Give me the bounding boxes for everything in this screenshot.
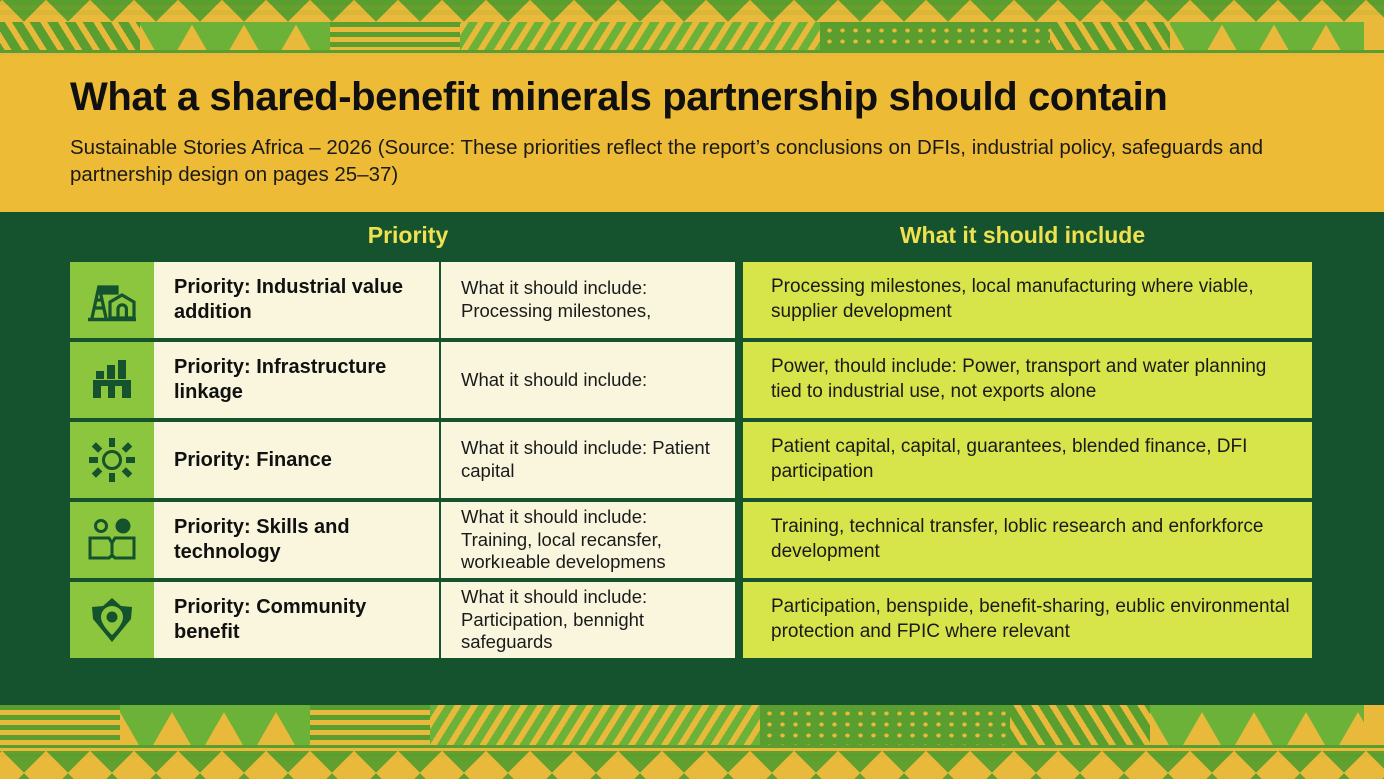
table-column-headers: Priority What it should include (0, 212, 1384, 260)
pattern-seg-stripes-b (0, 705, 120, 745)
table-row: Priority: Skills and technology What it … (70, 502, 1312, 578)
include-summary: What it should include: Processing miles… (439, 262, 735, 338)
table-row: Priority: Finance What it should include… (70, 422, 1312, 498)
table-row: Priority: Community benefit What it shou… (70, 582, 1312, 658)
include-detail: Training, technical transfer, loblic res… (743, 502, 1312, 578)
priority-label: Priority: Industrial value addition (154, 262, 439, 338)
table-row: Priority: Infrastructure linkage What it… (70, 342, 1312, 418)
pattern-band-mixed-bottom (0, 705, 1384, 745)
column-gap (735, 422, 743, 498)
include-detail: Power, thould include: Power, transport … (743, 342, 1312, 418)
column-header-include: What it should include (735, 222, 1310, 249)
include-detail: Participation, benspıide, benefit-sharin… (743, 582, 1312, 658)
page-subtitle: Sustainable Stories Africa – 2026 (Sourc… (70, 134, 1315, 189)
oil-derrick-factory-icon (70, 262, 154, 338)
include-summary: What it should include: Participation, b… (439, 582, 735, 658)
factory-bars-icon (70, 342, 154, 418)
page-title: What a shared-benefit minerals partnersh… (70, 74, 1324, 120)
pattern-seg-diagonal-b2 (1010, 705, 1150, 745)
open-book-people-icon (70, 502, 154, 578)
column-gap (735, 582, 743, 658)
pattern-band-zigzag-bottom (0, 751, 1384, 779)
include-detail: Patient capital, capital, guarantees, bl… (743, 422, 1312, 498)
decorative-border-bottom (0, 705, 1384, 779)
column-header-priority: Priority (168, 222, 648, 249)
priority-label: Priority: Finance (154, 422, 439, 498)
column-gap (735, 262, 743, 338)
priority-label: Priority: Infrastructure linkage (154, 342, 439, 418)
table-row: Priority: Industrial value addition What… (70, 262, 1312, 338)
priority-label: Priority: Skills and technology (154, 502, 439, 578)
pattern-seg-diagonal-b (430, 705, 760, 745)
pattern-seg-stripes-b2 (310, 705, 430, 745)
include-summary: What it should include: Training, local … (439, 502, 735, 578)
pattern-seg-triangles-b2 (1150, 705, 1364, 745)
priorities-table: Priority What it should include Priority… (0, 212, 1384, 705)
include-detail: Processing milestones, local manufacturi… (743, 262, 1312, 338)
pattern-band-zigzag (0, 0, 1384, 22)
priority-label: Priority: Community benefit (154, 582, 439, 658)
table-rows: Priority: Industrial value addition What… (70, 262, 1312, 662)
pattern-seg-dots-b (760, 705, 1010, 745)
include-summary: What it should include: Patient capital (439, 422, 735, 498)
include-summary: What it should include: (439, 342, 735, 418)
decorative-border-top (0, 0, 1384, 56)
sun-rays-icon (70, 422, 154, 498)
column-gap (735, 502, 743, 578)
infographic-poster: What a shared-benefit minerals partnersh… (0, 0, 1384, 779)
shield-location-pin-icon (70, 582, 154, 658)
pattern-seg-triangles-b (120, 705, 310, 745)
column-gap (735, 342, 743, 418)
header-banner: What a shared-benefit minerals partnersh… (0, 56, 1384, 212)
